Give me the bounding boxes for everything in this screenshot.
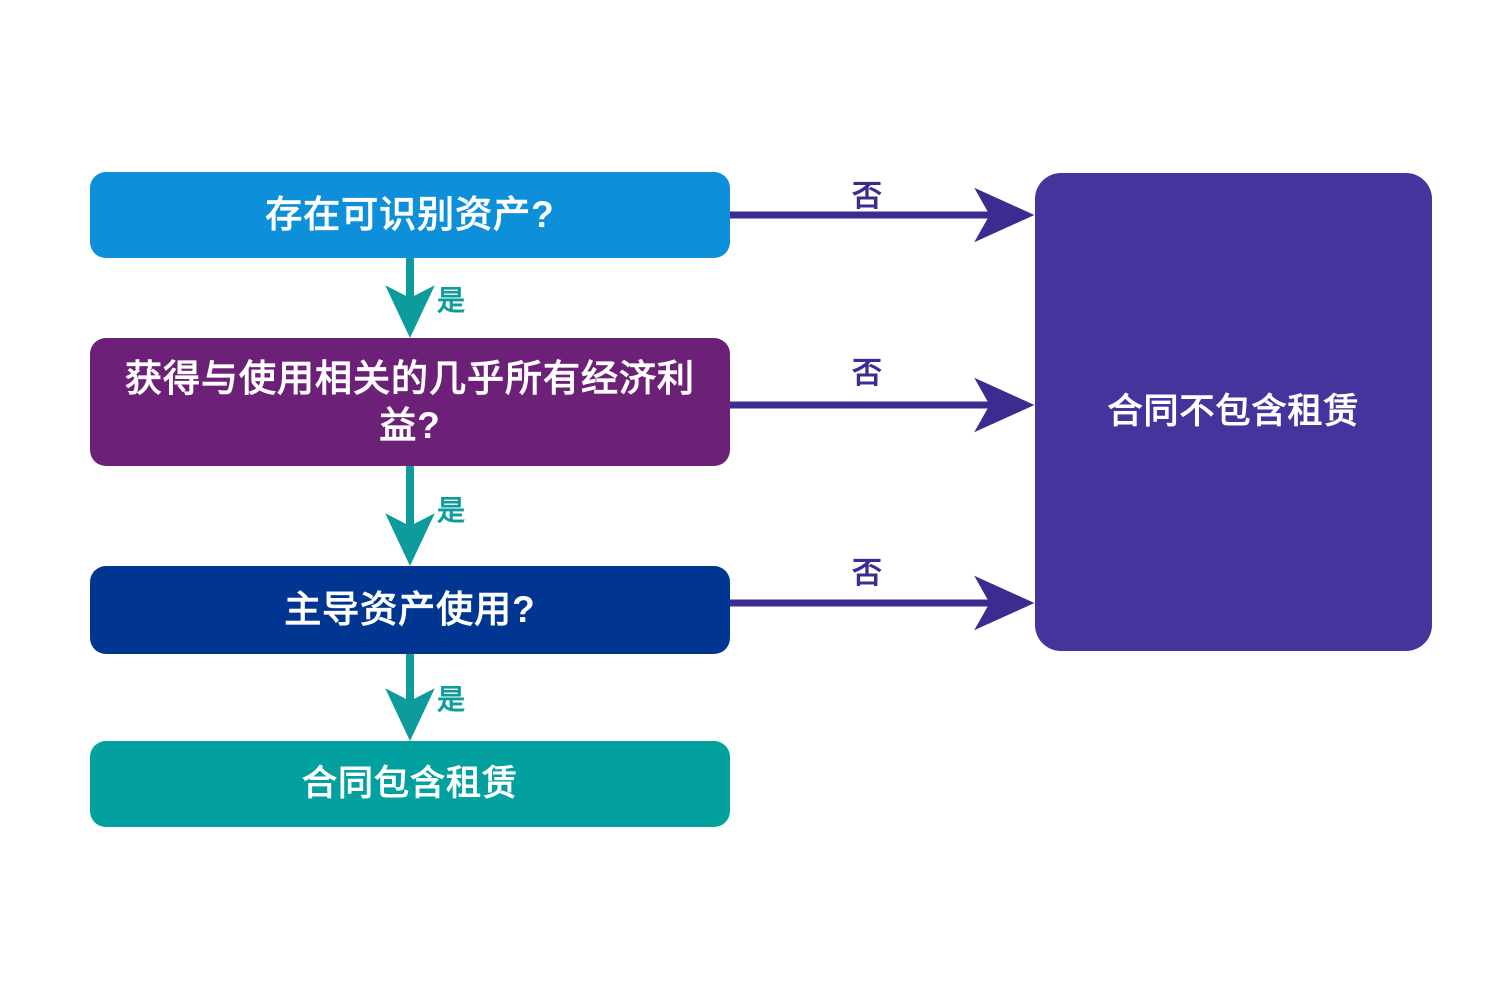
- edge-label-no-2: 否: [852, 348, 882, 392]
- edge-label-yes-1: 是: [437, 279, 465, 319]
- node-no-lease[interactable]: 合同不包含租赁: [1035, 173, 1432, 651]
- edge-label-yes-3: 是: [437, 678, 465, 718]
- node-contains-lease-label: 合同包含租赁: [288, 762, 532, 807]
- edge-label-yes-2: 是: [437, 489, 465, 529]
- node-identified-asset-label: 存在可识别资产?: [251, 191, 569, 238]
- edge-label-no-1: 否: [852, 171, 882, 215]
- node-direct-use[interactable]: 主导资产使用?: [90, 566, 730, 654]
- node-identified-asset[interactable]: 存在可识别资产?: [90, 172, 730, 258]
- edge-label-no-3: 否: [852, 548, 882, 592]
- node-direct-use-label: 主导资产使用?: [270, 586, 550, 633]
- node-no-lease-label: 合同不包含租赁: [1093, 390, 1373, 435]
- flowchart-canvas: 存在可识别资产? 获得与使用相关的几乎所有经济利益? 主导资产使用? 合同包含租…: [0, 0, 1500, 1000]
- node-economic-benefits[interactable]: 获得与使用相关的几乎所有经济利益?: [90, 338, 730, 466]
- node-contains-lease[interactable]: 合同包含租赁: [90, 741, 730, 827]
- node-economic-benefits-label: 获得与使用相关的几乎所有经济利益?: [90, 355, 730, 450]
